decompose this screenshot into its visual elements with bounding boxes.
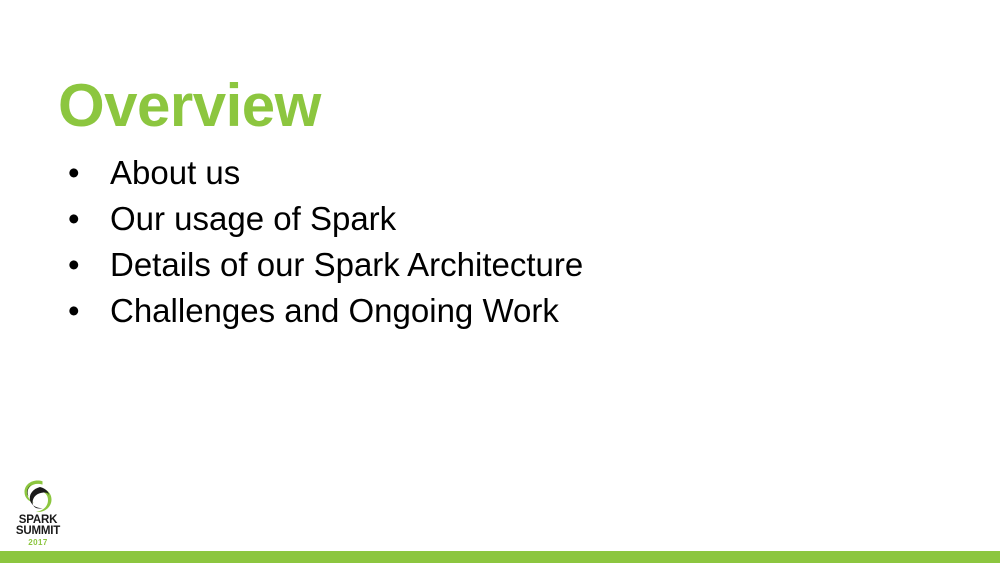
logo-year: 2017	[28, 538, 47, 547]
list-item-label: Details of our Spark Architecture	[110, 246, 583, 283]
bullet-dot-icon: •	[68, 150, 80, 196]
overview-bullet-list: • About us • Our usage of Spark • Detail…	[66, 150, 926, 334]
logo-wordmark: SPARK SUMMIT	[16, 515, 60, 537]
list-item-label: Our usage of Spark	[110, 200, 396, 237]
list-item: • About us	[66, 150, 926, 196]
bullet-dot-icon: •	[68, 196, 80, 242]
spark-summit-logo: SPARK SUMMIT 2017	[12, 478, 64, 548]
bullet-dot-icon: •	[68, 242, 80, 288]
list-item-label: Challenges and Ongoing Work	[110, 292, 559, 329]
list-item: • Details of our Spark Architecture	[66, 242, 926, 288]
list-item: • Our usage of Spark	[66, 196, 926, 242]
list-item: • Challenges and Ongoing Work	[66, 288, 926, 334]
logo-word-line2: SUMMIT	[16, 526, 60, 537]
footer-accent-bar	[0, 551, 1000, 563]
list-item-label: About us	[110, 154, 240, 191]
bullet-dot-icon: •	[68, 288, 80, 334]
presentation-slide: Overview • About us • Our usage of Spark…	[0, 0, 1000, 563]
spark-summit-spiral-icon	[21, 478, 55, 514]
page-title: Overview	[58, 74, 321, 137]
